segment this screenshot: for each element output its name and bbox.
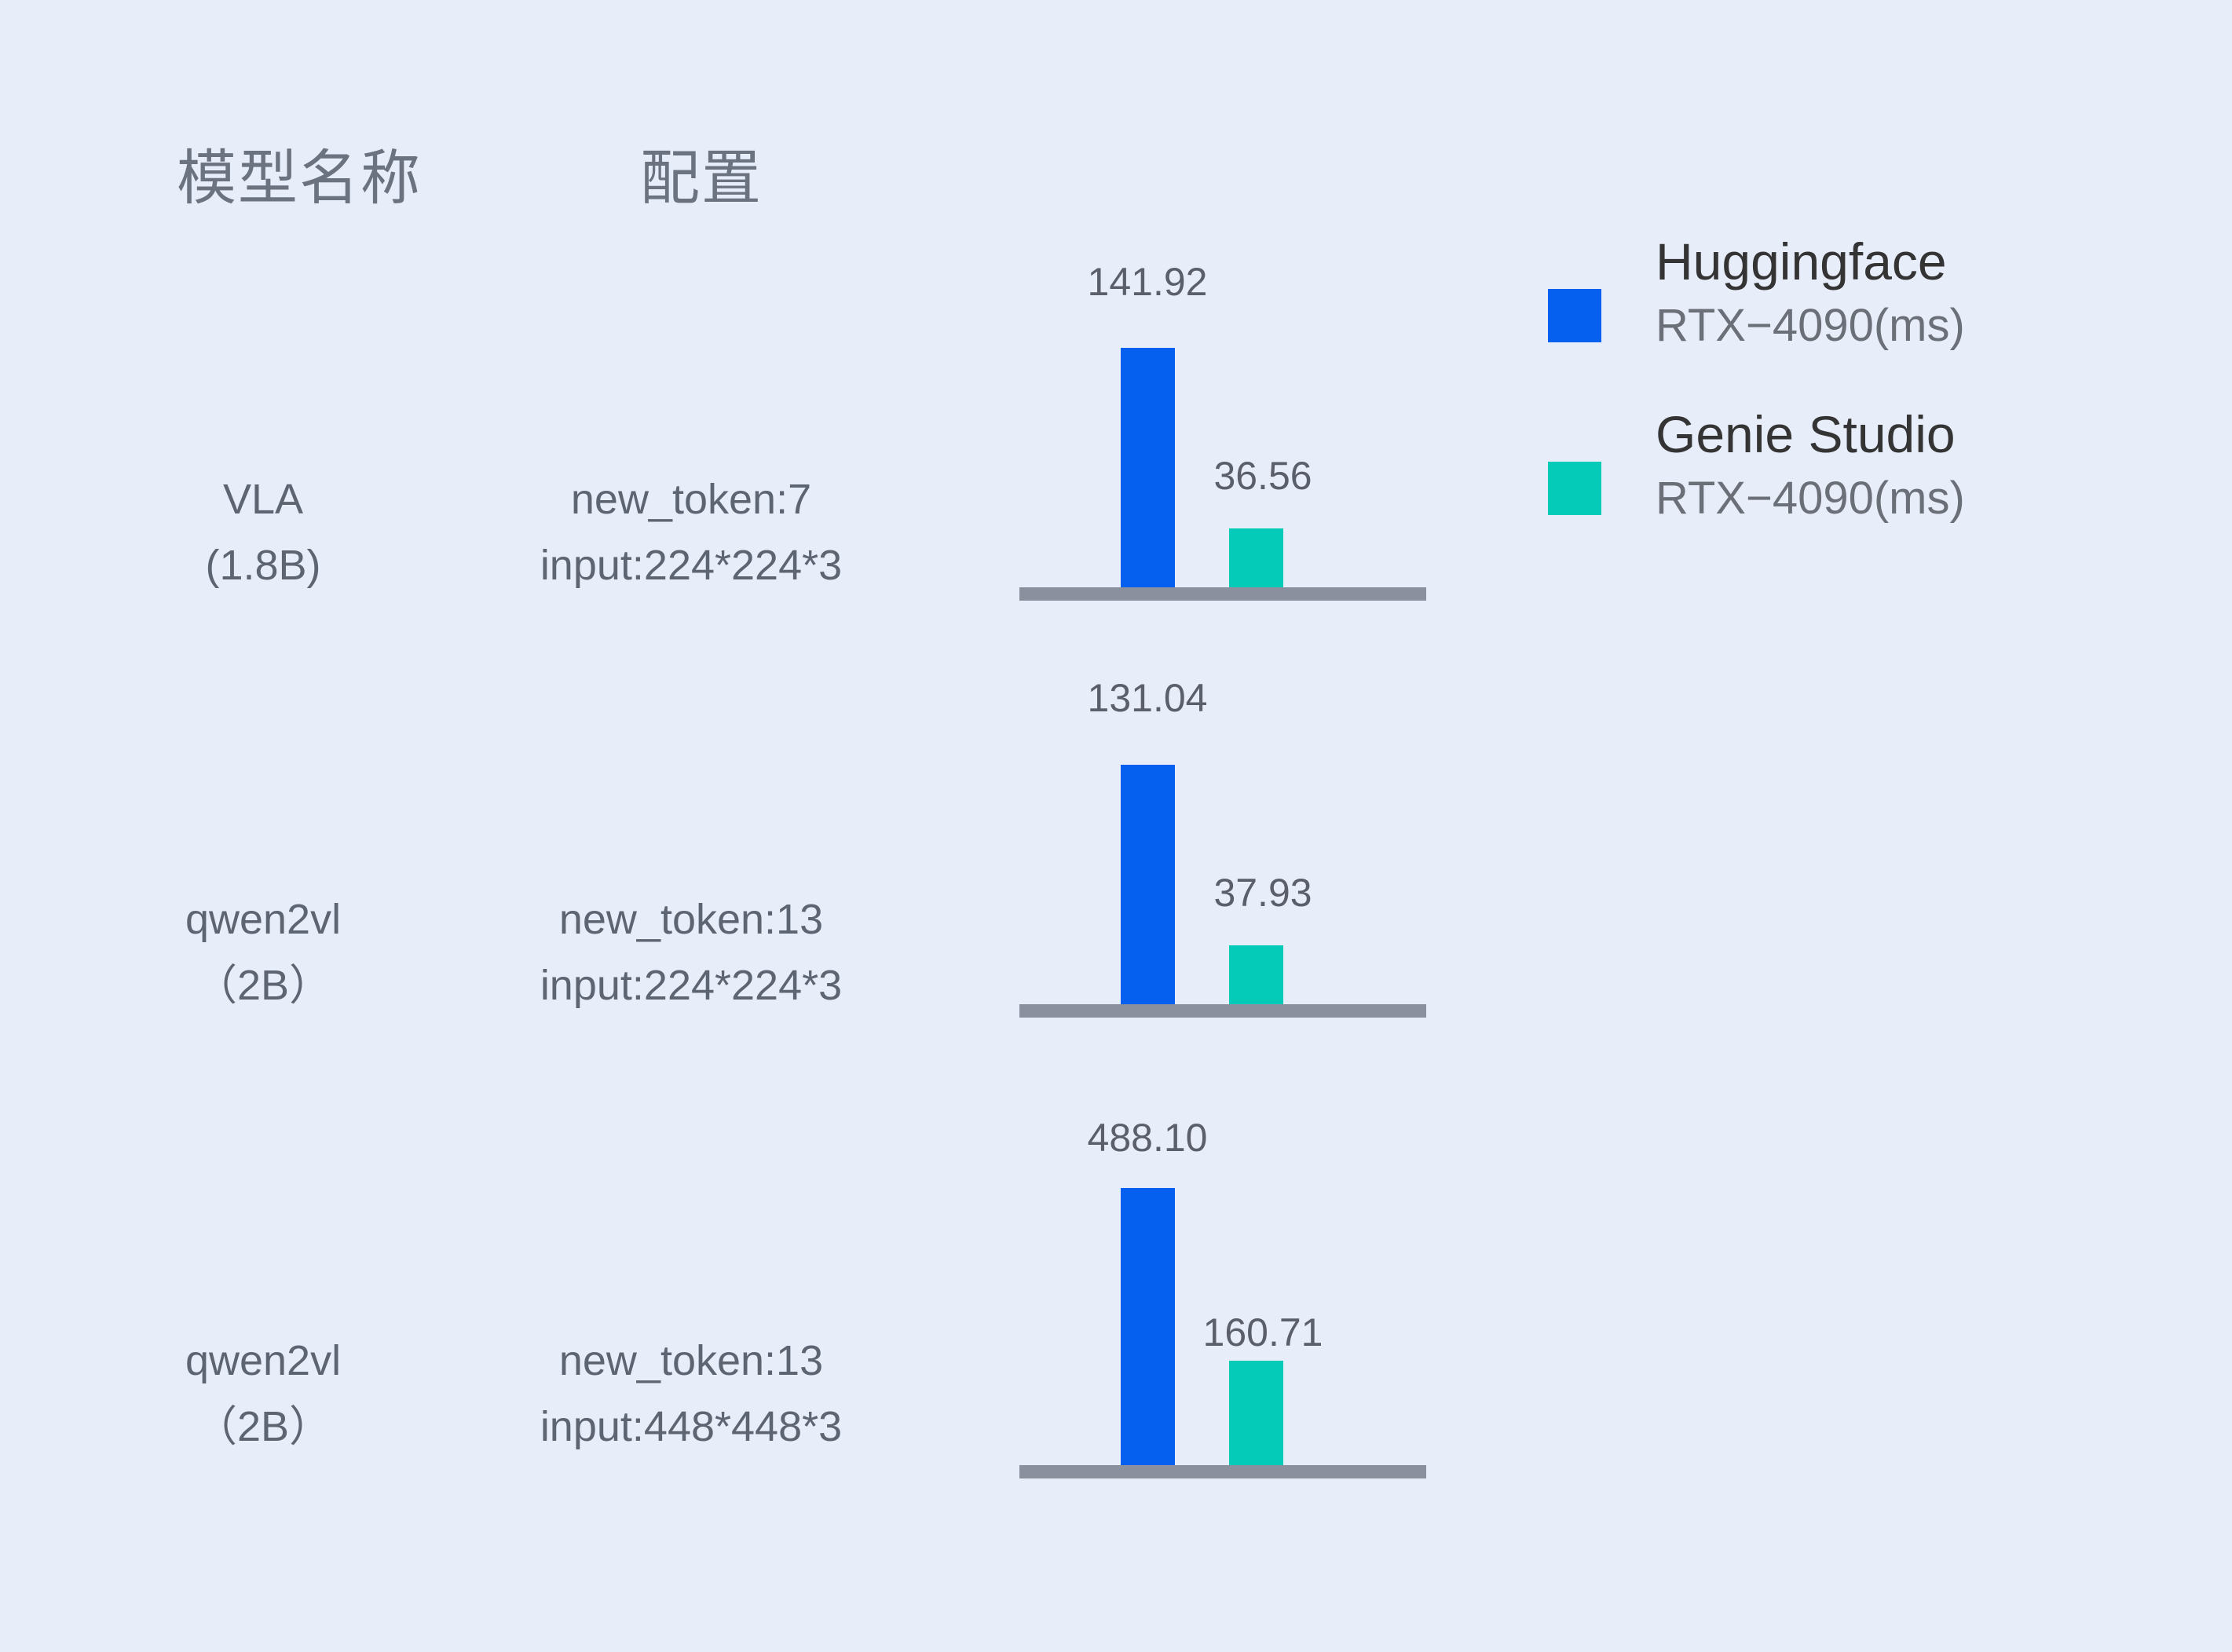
bar-huggingface	[1121, 1188, 1175, 1474]
bar-value-huggingface: 141.92	[1045, 259, 1250, 305]
row-model-label: VLA (1.8B)	[141, 467, 385, 598]
column-header-config: 配置	[640, 130, 763, 216]
row-model-label: qwen2vl （2B）	[141, 1329, 385, 1460]
row-model-line2: （2B）	[141, 1394, 385, 1460]
row-config-line1: new_token:7	[571, 476, 811, 523]
row-model-line1: VLA	[223, 476, 303, 523]
axis-baseline	[1019, 1004, 1426, 1018]
row-config-line2: input:224*224*3	[440, 533, 942, 599]
legend-text-block: Huggingface RTX−4090(ms)	[1656, 236, 2174, 349]
legend-text-block: Genie Studio RTX−4090(ms)	[1656, 408, 2174, 521]
row-config-line1: new_token:13	[559, 1337, 823, 1384]
row-config-line1: new_token:13	[559, 896, 823, 943]
axis-baseline	[1019, 1465, 1426, 1478]
column-header-model-name: 模型名称	[177, 130, 422, 216]
blue-square-swatch-icon	[1548, 289, 1601, 342]
bar-genie	[1229, 528, 1283, 587]
row-model-line2: （2B）	[141, 953, 385, 1019]
legend-item-genie-studio[interactable]: Genie Studio RTX−4090(ms)	[1539, 408, 2183, 581]
bar-value-genie: 160.71	[1161, 1310, 1365, 1355]
axis-baseline	[1019, 587, 1426, 601]
chart-canvas: 模型名称 配置 VLA (1.8B) new_token:7 input:224…	[0, 0, 2232, 1652]
teal-square-swatch-icon	[1548, 462, 1601, 515]
row-config-label: new_token:13 input:448*448*3	[440, 1329, 942, 1460]
bar-genie	[1229, 1361, 1283, 1465]
row-model-line2: (1.8B)	[141, 533, 385, 599]
row-model-label: qwen2vl （2B）	[141, 887, 385, 1018]
row-config-line2: input:224*224*3	[440, 953, 942, 1019]
row-model-line1: qwen2vl	[185, 896, 341, 943]
bar-huggingface	[1121, 348, 1175, 587]
legend-item-huggingface[interactable]: Huggingface RTX−4090(ms)	[1539, 236, 2183, 408]
row-config-label: new_token:13 input:224*224*3	[440, 887, 942, 1018]
bar-genie	[1229, 945, 1283, 1004]
legend-label-genie-studio: Genie Studio	[1656, 408, 2174, 460]
bar-value-huggingface: 131.04	[1045, 675, 1250, 721]
bar-value-genie: 37.93	[1161, 870, 1365, 916]
row-config-label: new_token:7 input:224*224*3	[440, 467, 942, 598]
row-model-line1: qwen2vl	[185, 1337, 341, 1384]
bar-value-genie: 36.56	[1161, 453, 1365, 499]
row-config-line2: input:448*448*3	[440, 1394, 942, 1460]
bar-value-huggingface: 488.10	[1045, 1115, 1250, 1160]
chart-legend: Huggingface RTX−4090(ms) Genie Studio RT…	[1539, 236, 2183, 581]
legend-label-huggingface: Huggingface	[1656, 236, 2174, 287]
legend-sublabel-genie-studio: RTX−4090(ms)	[1656, 476, 2174, 521]
legend-sublabel-huggingface: RTX−4090(ms)	[1656, 303, 2174, 349]
bar-huggingface	[1121, 765, 1175, 1004]
